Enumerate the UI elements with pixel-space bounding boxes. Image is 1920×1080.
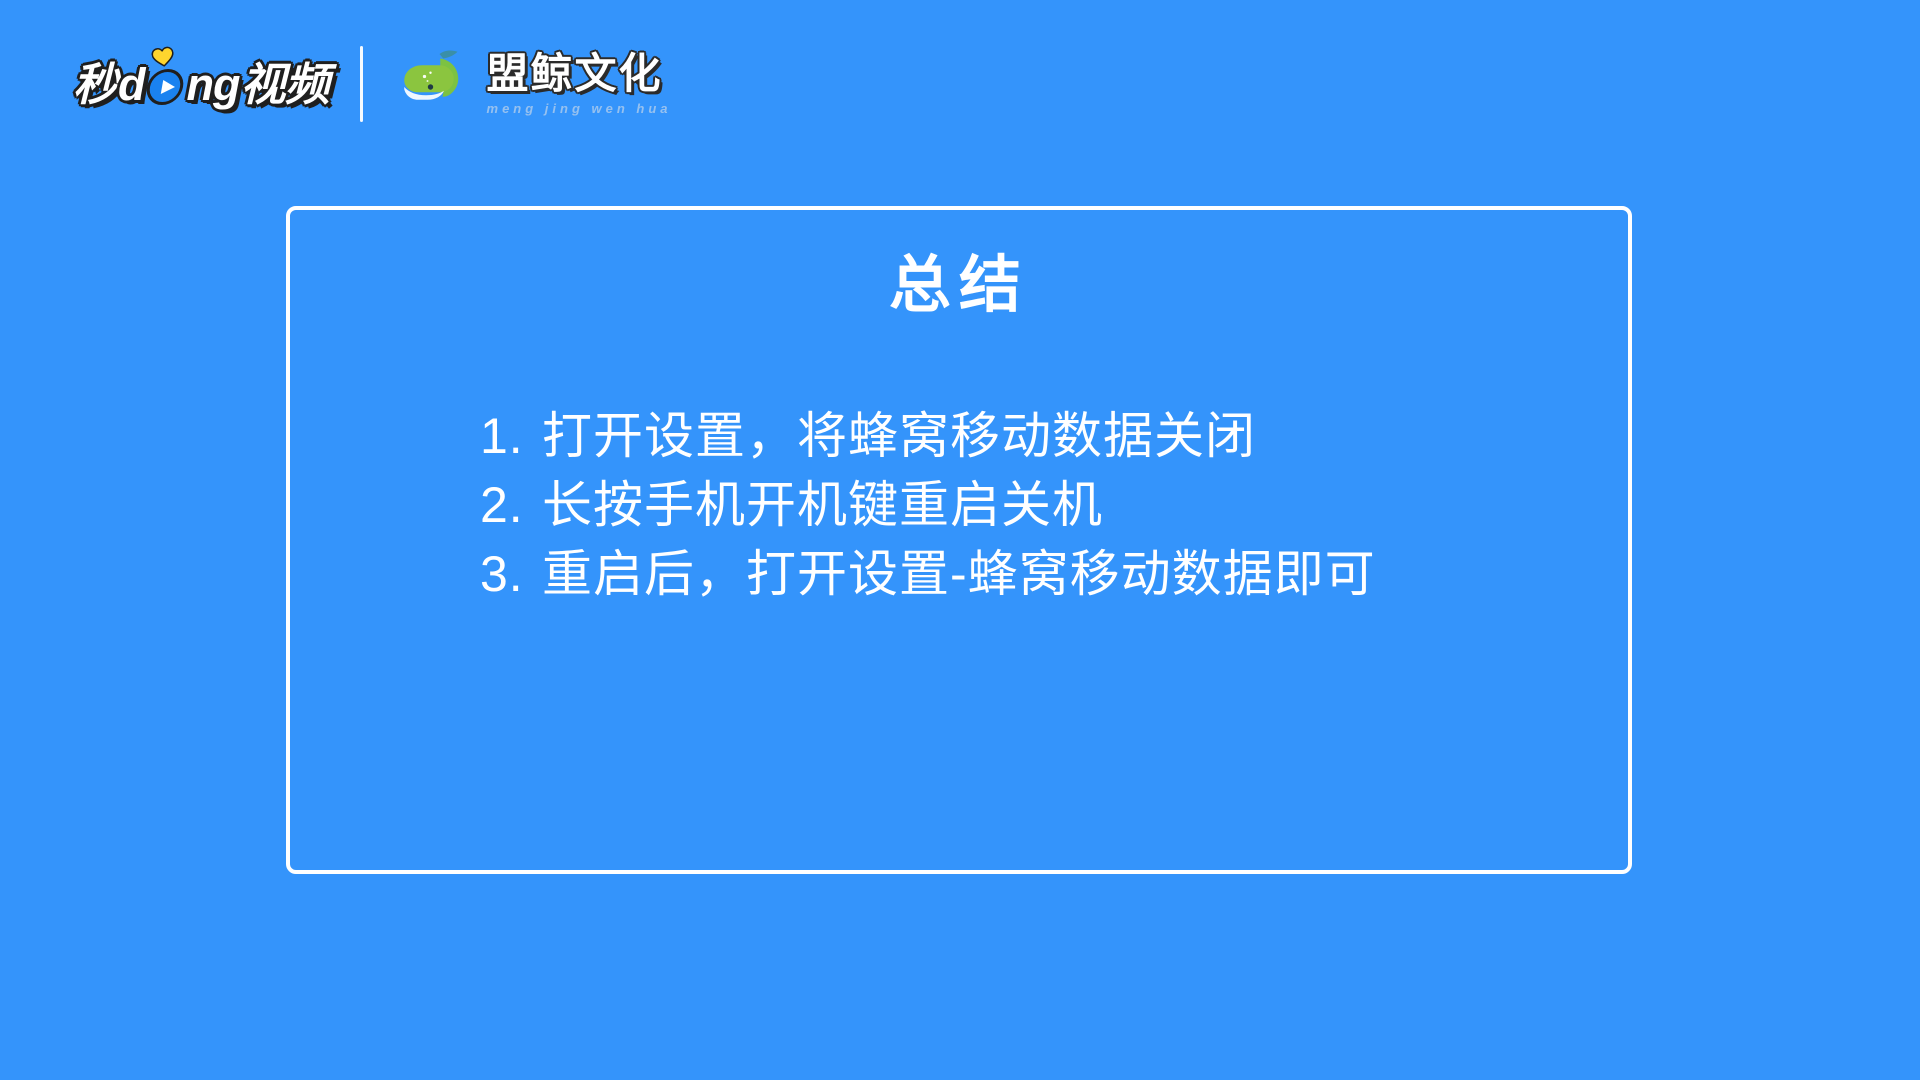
slide-root: 秒 d ng 视频 盟鲸 [0, 0, 1920, 1080]
whale-icon [397, 48, 473, 120]
list-item: 3. 重启后，打开设置-蜂窝移动数据即可 [480, 540, 1376, 609]
step-text: 打开设置，将蜂窝移动数据关闭 [542, 402, 1256, 471]
miaodong-video-logo: 秒 d ng 视频 [72, 62, 330, 107]
play-triangle-icon [143, 69, 185, 105]
step-text: 重启后，打开设置-蜂窝移动数据即可 [542, 540, 1376, 609]
logo-play-button-icon [145, 62, 187, 107]
brand-bar: 秒 d ng 视频 盟鲸 [72, 38, 672, 130]
panel-title: 总结 [290, 252, 1628, 320]
mengjing-cn-text: 盟鲸文化 [487, 53, 672, 95]
logo-text-latin-ng: ng [187, 62, 240, 107]
brand-divider [360, 46, 363, 122]
summary-panel: 总结 1. 打开设置，将蜂窝移动数据关闭 2. 长按手机开机键重启关机 3. 重… [286, 206, 1632, 874]
steps-list: 1. 打开设置，将蜂窝移动数据关闭 2. 长按手机开机键重启关机 3. 重启后，… [290, 402, 1628, 609]
mengjing-text-block: 盟鲸文化 meng jing wen hua [487, 53, 672, 115]
mengjing-culture-logo: 盟鲸文化 meng jing wen hua [397, 44, 672, 124]
step-number: 3. [480, 540, 542, 609]
list-item: 1. 打开设置，将蜂窝移动数据关闭 [480, 402, 1256, 471]
heart-icon [150, 45, 175, 68]
mengjing-en-text: meng jing wen hua [487, 102, 672, 115]
list-item: 2. 长按手机开机键重启关机 [480, 471, 1103, 540]
logo-text-latin-d: d [118, 62, 145, 107]
step-number: 1. [480, 402, 542, 471]
step-number: 2. [480, 471, 542, 540]
logo-text-cn-lead: 秒 [72, 62, 118, 107]
logo-text-cn-tail: 视频 [240, 62, 330, 107]
step-text: 长按手机开机键重启关机 [542, 471, 1103, 540]
